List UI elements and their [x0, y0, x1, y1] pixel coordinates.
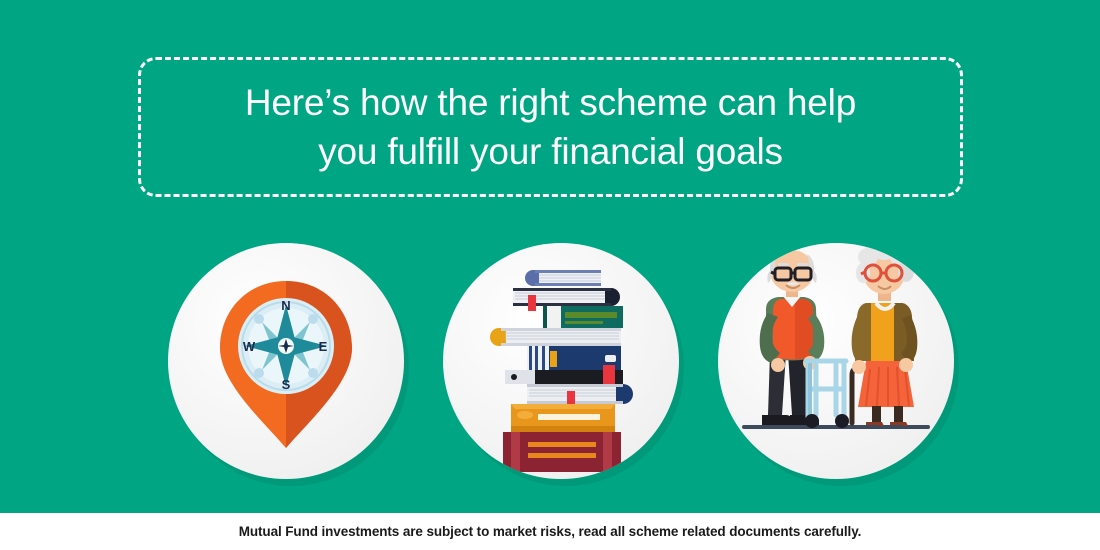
icon-circle-books — [443, 243, 679, 479]
disclaimer-text: Mutual Fund investments are subject to m… — [239, 524, 862, 539]
location-pin-compass-icon: N E S W — [168, 243, 404, 479]
svg-text:W: W — [243, 339, 256, 354]
svg-text:N: N — [281, 298, 290, 313]
footer-disclaimer-bar: Mutual Fund investments are subject to m… — [0, 513, 1100, 550]
elderly-couple-icon — [718, 243, 954, 479]
stack-of-books-icon — [443, 243, 679, 479]
headline-dashed-box: Here’s how the right scheme can help you… — [138, 57, 963, 197]
icon-row: N E S W — [0, 243, 1100, 488]
svg-text:E: E — [319, 339, 328, 354]
page-title: Here’s how the right scheme can help you… — [225, 78, 876, 176]
icon-circle-elderly-couple — [718, 243, 954, 479]
infographic-banner: Here’s how the right scheme can help you… — [0, 0, 1100, 550]
svg-text:S: S — [282, 377, 291, 392]
icon-circle-location-pin: N E S W — [168, 243, 404, 479]
